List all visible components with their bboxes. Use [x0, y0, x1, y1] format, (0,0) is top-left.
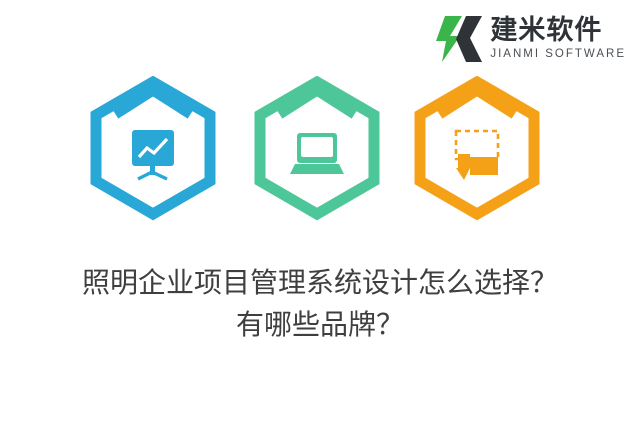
page-title-line-2: 有哪些品牌？: [0, 304, 640, 346]
hex-presentation-chart-icon: [88, 76, 218, 236]
brand-name-cn: 建米软件: [490, 17, 626, 44]
poster-canvas: 建米软件 JIANMI SOFTWARE: [0, 0, 640, 427]
hex-laptop-icon: [252, 76, 382, 236]
brand-logo: 建米软件 JIANMI SOFTWARE: [436, 12, 626, 66]
brand-logo-text: 建米软件 JIANMI SOFTWARE: [490, 17, 626, 61]
hex-selection-crop-icon: [412, 76, 542, 236]
hex-icon-row: [0, 72, 640, 240]
page-title-line-1: 照明企业项目管理系统设计怎么选择？: [0, 262, 640, 304]
page-title: 照明企业项目管理系统设计怎么选择？ 有哪些品牌？: [0, 262, 640, 346]
jianmi-j-mark-icon: [436, 14, 484, 64]
brand-name-en: JIANMI SOFTWARE: [490, 49, 626, 61]
